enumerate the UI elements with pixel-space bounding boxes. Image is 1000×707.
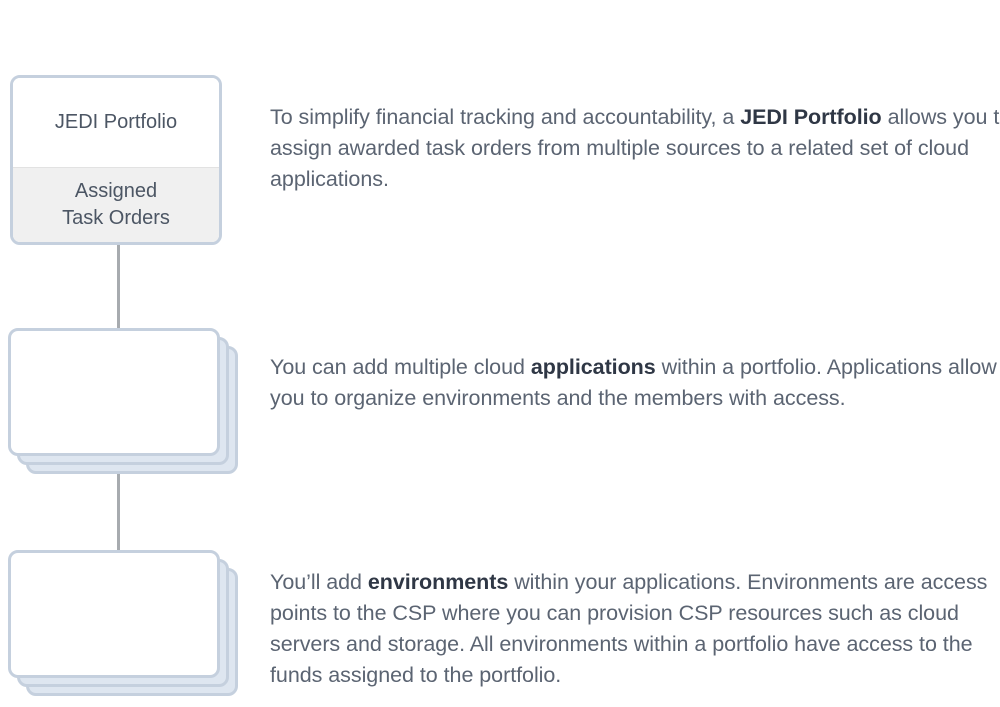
assigned-task-orders-label: Assigned Task Orders <box>62 178 170 232</box>
jedi-portfolio-label: JEDI Portfolio <box>55 109 177 136</box>
description-applications-bold: applications <box>531 355 656 379</box>
description-jedi-portfolio: To simplify financial tracking and accou… <box>270 102 1000 195</box>
description-environments-bold: environments <box>368 570 508 594</box>
jedi-portfolio-card-header: JEDI Portfolio <box>13 78 219 167</box>
description-portfolio-bold: JEDI Portfolio <box>740 105 881 129</box>
description-portfolio-part1: To simplify financial tracking and accou… <box>270 105 740 129</box>
description-applications-part1: You can add multiple cloud <box>270 355 531 379</box>
node-jedi-portfolio[interactable]: JEDI Portfolio Assigned Task Orders <box>10 75 222 245</box>
node-applications[interactable]: Applications <box>8 328 240 476</box>
description-environments-part1: You’ll add <box>270 570 368 594</box>
node-environments[interactable]: Environments <box>8 550 240 698</box>
jedi-portfolio-card: JEDI Portfolio Assigned Task Orders <box>10 75 222 245</box>
jedi-portfolio-card-footer: Assigned Task Orders <box>13 167 219 242</box>
environments-card <box>8 550 220 678</box>
description-environments: You’ll add environments within your appl… <box>270 567 1000 691</box>
connector-portfolio-to-applications <box>117 243 120 331</box>
description-applications: You can add multiple cloud applications … <box>270 352 1000 414</box>
applications-card <box>8 328 220 456</box>
portfolio-structure-diagram: JEDI Portfolio Assigned Task Orders Appl… <box>0 0 1000 707</box>
